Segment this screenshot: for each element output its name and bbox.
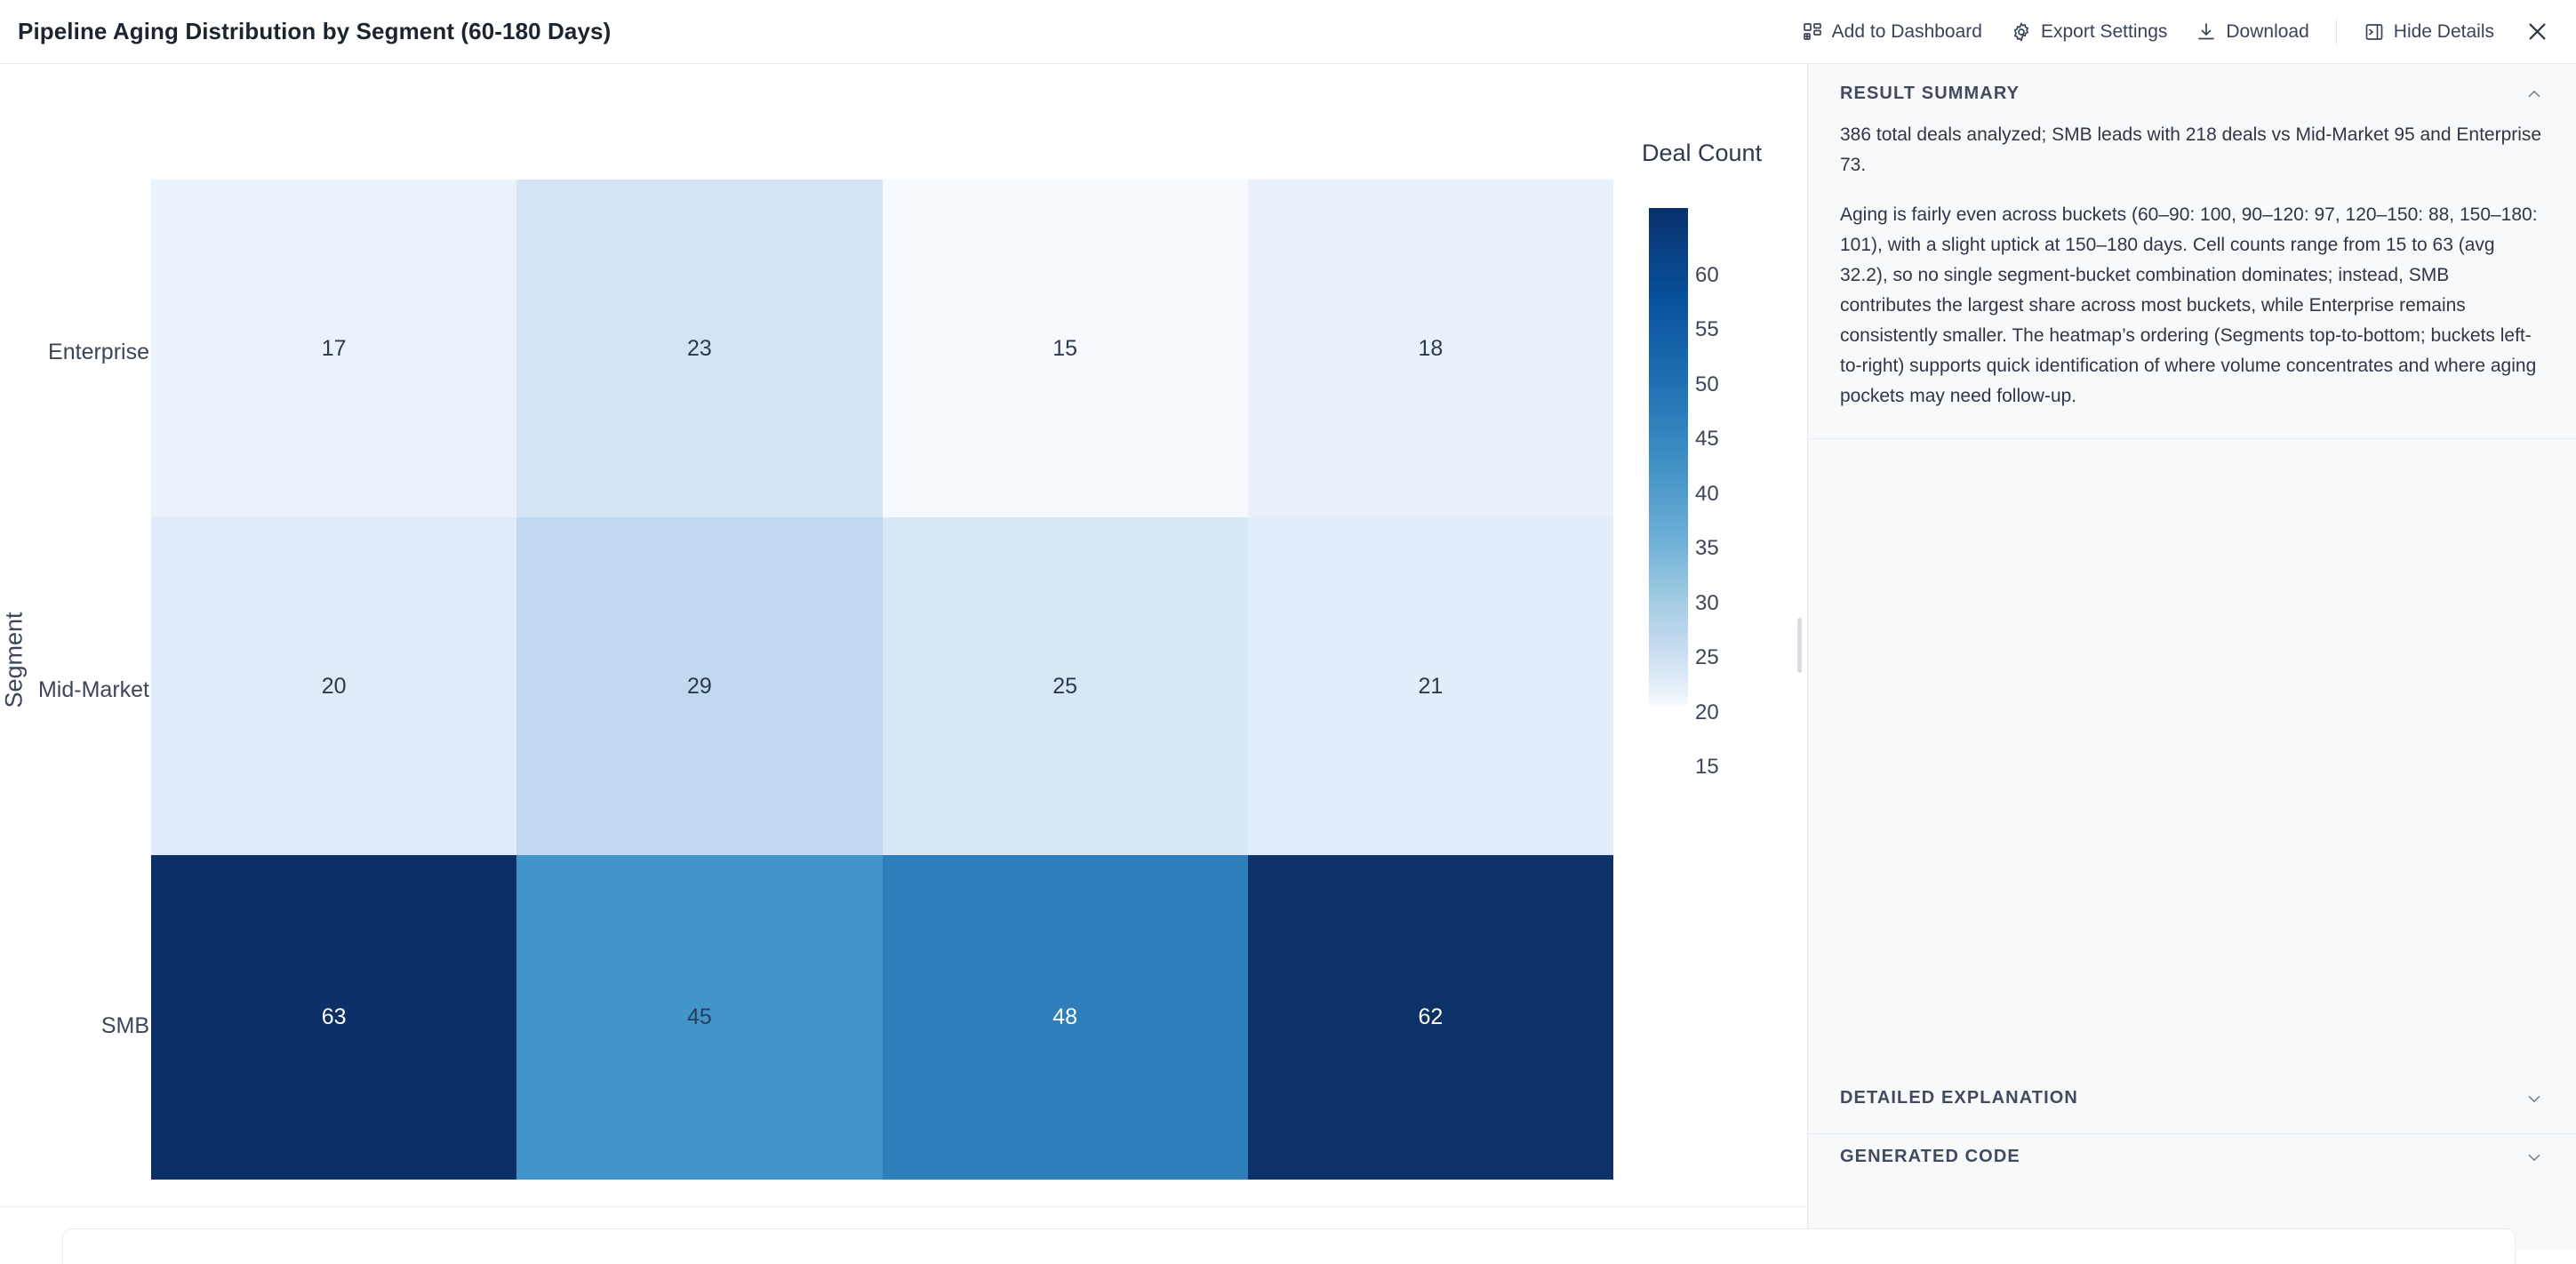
result-summary-section: RESULT SUMMARY 386 total deals analyzed;… [1808,64,2576,439]
heatmap-cell[interactable]: 23 [516,180,882,517]
heatmap-cell[interactable]: 48 [883,855,1248,1180]
generated-code-title: GENERATED CODE [1840,1147,2020,1167]
colorbar-title: Deal Count [1642,140,1762,167]
details-panel: RESULT SUMMARY 386 total deals analyzed;… [1807,64,2576,1250]
close-button[interactable] [2517,12,2556,52]
heatmap-cell[interactable]: 62 [1248,855,1613,1180]
export-settings-button[interactable]: Export Settings [1996,14,2181,50]
chevron-up-icon[interactable] [2524,84,2544,104]
detailed-explanation-title: DETAILED EXPLANATION [1840,1088,2078,1108]
close-icon [2525,20,2549,44]
content-area: Segment Enterprise Mid-Market SMB 17 23 … [0,64,2576,1250]
heatmap-cell[interactable]: 18 [1248,180,1613,517]
result-summary-title: RESULT SUMMARY [1840,84,2020,104]
export-settings-label: Export Settings [2041,21,2167,43]
heatmap-cell[interactable]: 63 [151,855,516,1180]
heatmap-cell[interactable]: 20 [151,517,516,855]
dashboard-add-icon [1802,21,1823,43]
chevron-down-icon[interactable] [2524,1148,2544,1167]
colorbar-tick: 45 [1695,427,1719,452]
colorbar-tick: 15 [1695,755,1719,780]
y-axis-tick-labels: Enterprise Mid-Market SMB [0,64,149,1206]
result-summary-body: 386 total deals analyzed; SMB leads with… [1808,120,2576,438]
colorbar-tick: 50 [1695,372,1719,397]
colorbar-gradient [1649,208,1688,706]
header-actions: Add to Dashboard Export Settings Downloa… [1788,12,2556,52]
y-tick-mid-market: Mid-Market [7,677,149,703]
page-title: Pipeline Aging Distribution by Segment (… [18,18,611,45]
chart-pane: Segment Enterprise Mid-Market SMB 17 23 … [0,64,1807,1250]
toolbar-divider [2336,19,2337,45]
download-icon [2196,21,2217,43]
gear-icon [2011,21,2032,43]
colorbar-tick: 35 [1695,536,1719,561]
heatmap-cell[interactable]: 21 [1248,517,1613,855]
colorbar-tick: 60 [1695,263,1719,288]
heatmap-grid: 17 23 15 18 20 29 25 21 63 45 48 62 [151,180,1613,1180]
heatmap-chart[interactable]: Segment Enterprise Mid-Market SMB 17 23 … [0,64,1807,1206]
colorbar-tick: 55 [1695,317,1719,342]
hide-details-button[interactable]: Hide Details [2349,14,2508,50]
download-label: Download [2226,21,2308,43]
window-header: Pipeline Aging Distribution by Segment (… [0,0,2576,64]
add-to-dashboard-button[interactable]: Add to Dashboard [1788,14,1996,50]
heatmap-cell[interactable]: 45 [516,855,882,1180]
colorbar-tick: 30 [1695,591,1719,616]
result-summary-header[interactable]: RESULT SUMMARY [1808,64,2576,120]
chevron-down-icon[interactable] [2524,1089,2544,1108]
bottom-sheet-card[interactable] [62,1228,2516,1264]
heatmap-cell[interactable]: 15 [883,180,1248,517]
colorbar-tick: 40 [1695,482,1719,507]
heatmap-cell[interactable]: 17 [151,180,516,517]
hide-details-label: Hide Details [2394,21,2494,43]
summary-paragraph: Aging is fairly even across buckets (60–… [1840,200,2542,412]
colorbar-tick: 25 [1695,645,1719,670]
add-to-dashboard-label: Add to Dashboard [1832,21,1982,43]
panel-collapse-icon [2364,21,2385,43]
y-tick-smb: SMB [0,1013,149,1039]
heatmap-cell[interactable]: 29 [516,517,882,855]
summary-paragraph: 386 total deals analyzed; SMB leads with… [1840,120,2542,180]
download-button[interactable]: Download [2181,14,2323,50]
colorbar-tick: 20 [1695,700,1719,725]
generated-code-header[interactable]: GENERATED CODE [1808,1122,2576,1192]
chart-pane-scrollbar[interactable] [1797,618,1802,673]
generated-code-section: GENERATED CODE [1808,1122,2576,1192]
heatmap-cell[interactable]: 25 [883,517,1248,855]
y-tick-enterprise: Enterprise [7,340,149,365]
